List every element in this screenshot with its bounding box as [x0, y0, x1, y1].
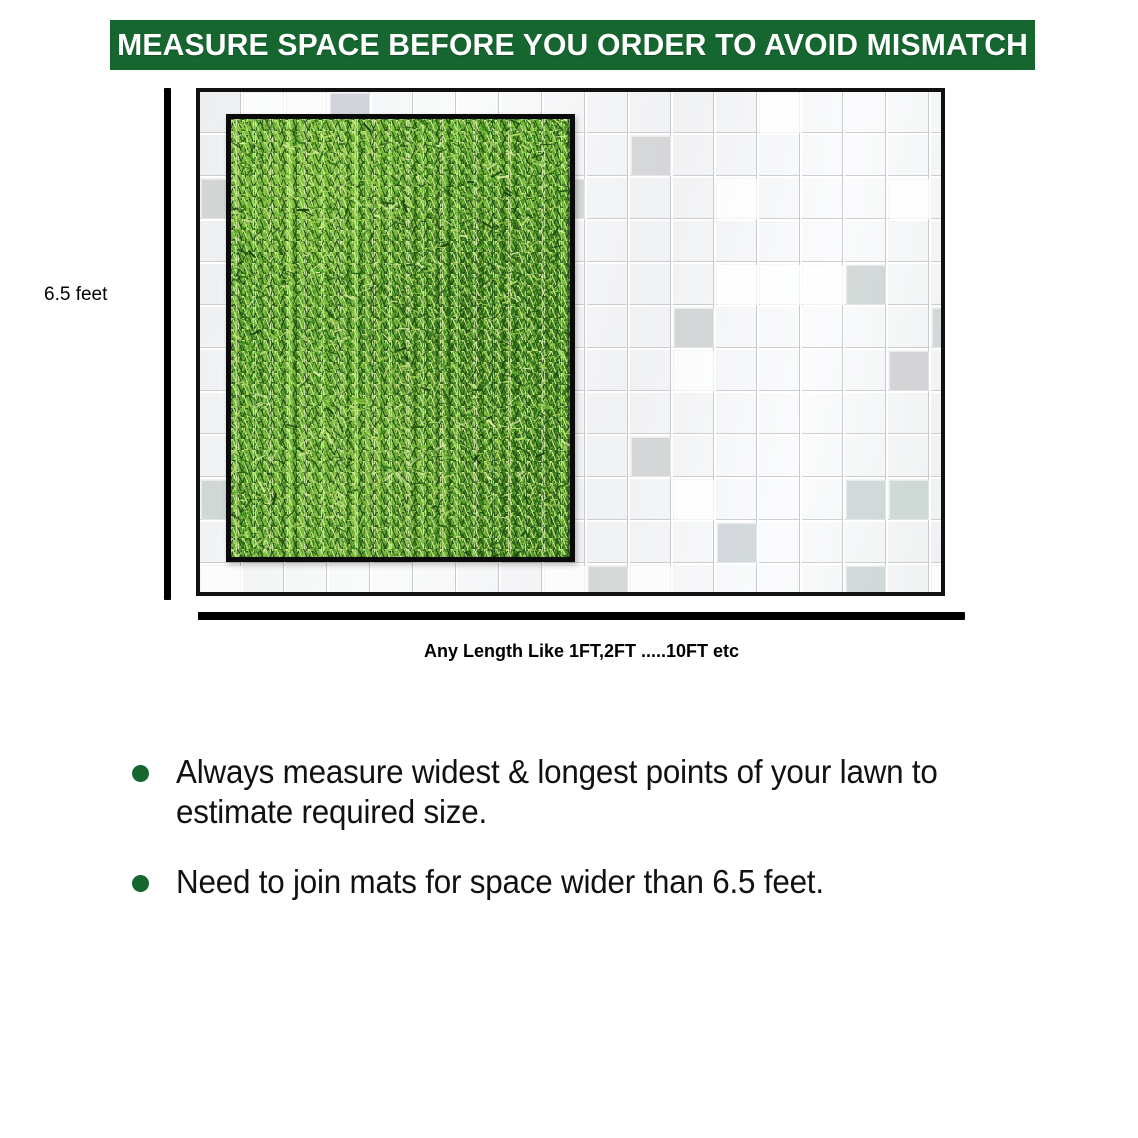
grass-blade [553, 118, 561, 125]
grass-blade [437, 405, 444, 411]
grass-blade [279, 354, 285, 362]
grass-blade [458, 547, 464, 559]
grass-blade [343, 263, 352, 272]
grass-blade [241, 178, 244, 184]
grass-blade [347, 233, 351, 242]
grass-blade [426, 289, 431, 295]
grass-blade [556, 198, 562, 200]
grass-blade [240, 311, 250, 319]
grass-blade [491, 128, 502, 136]
grass-blade [409, 499, 415, 511]
grass-blade [400, 417, 406, 420]
grass-blade [262, 534, 268, 545]
grass-blade [539, 217, 542, 224]
grass-blade [249, 559, 259, 562]
grass-blade [334, 439, 338, 451]
grass-blade [307, 262, 314, 272]
grass-blade [361, 131, 366, 135]
grass-blade [393, 522, 401, 531]
grass-blade [560, 345, 572, 351]
grass-blade [401, 301, 411, 310]
grass-blade [231, 229, 242, 233]
grass-blade [360, 333, 367, 336]
grass-blade [347, 403, 354, 412]
grass-blade [312, 354, 317, 363]
grass-blade [517, 446, 528, 453]
grass-blade [554, 505, 558, 511]
grass-blade [469, 285, 473, 291]
grass-blade [300, 164, 311, 167]
grass-blade [314, 252, 316, 256]
grass-blade [478, 139, 485, 140]
grass-blade [554, 419, 562, 430]
grass-blade [526, 279, 533, 285]
grass-blade [305, 537, 312, 544]
grass-blade [551, 254, 558, 256]
grass-blade [353, 292, 358, 303]
grass-blade [349, 461, 356, 466]
grass-blade [282, 260, 289, 267]
grass-blade [249, 544, 256, 554]
grass-blade [567, 131, 575, 135]
grass-blade [359, 260, 365, 269]
grass-blade [560, 249, 565, 254]
grass-blade [282, 114, 292, 115]
grass-blade [327, 217, 338, 224]
grass-blade [229, 448, 237, 455]
grass-blade [350, 410, 359, 412]
grass-blade [533, 547, 539, 549]
grass-blade [394, 347, 406, 353]
grass-blade [411, 293, 423, 294]
grass-blade [399, 276, 409, 283]
grass-blade [565, 201, 570, 212]
grass-blade [487, 318, 492, 324]
grass-blade [455, 425, 461, 431]
grass-blade [250, 392, 256, 395]
grass-blade [289, 144, 300, 149]
grass-blade [325, 535, 329, 540]
grass-blade [354, 199, 363, 207]
grass-blade [420, 386, 430, 389]
grass-blade [361, 151, 367, 158]
grass-blade [425, 293, 437, 300]
grass-blade [293, 481, 304, 490]
grass-blade [469, 383, 478, 388]
grass-blade [392, 318, 402, 322]
grass-blade [311, 412, 319, 424]
grass-blade [405, 126, 416, 129]
grass-blade [554, 173, 562, 179]
grass-blade [447, 123, 457, 132]
grass-blade [562, 167, 569, 172]
grass-blade [495, 198, 503, 205]
vertical-measure-label: 6.5 feet [44, 284, 107, 306]
grass-blade [569, 429, 575, 434]
grass-blade [328, 385, 336, 388]
grass-blade [558, 410, 565, 419]
grass-blade [509, 262, 518, 272]
grass-blade [528, 201, 535, 208]
grass-blade [554, 508, 558, 516]
grass-blade [325, 251, 332, 260]
grass-blade [560, 293, 572, 297]
grass-blade [467, 234, 473, 242]
grass-blade [369, 237, 374, 240]
grass-blade [513, 234, 517, 242]
grass-blade [387, 399, 391, 403]
grass-blade [378, 290, 381, 295]
grass-blade [438, 356, 446, 360]
grass-blade [467, 524, 470, 530]
grass-blade [325, 271, 330, 278]
grass-blade [541, 247, 551, 254]
grass-blade [410, 490, 414, 496]
grass-blade [334, 154, 341, 162]
grass-blade [343, 463, 354, 468]
grass-blade [487, 463, 499, 470]
grass-blade [424, 267, 437, 273]
grass-blade [454, 503, 460, 509]
grass-blade [366, 327, 374, 339]
grass-blade [426, 307, 432, 316]
grass-blade [320, 383, 324, 391]
grass-blade [517, 470, 526, 477]
grass-blade [291, 368, 294, 372]
grass-blade [412, 277, 417, 282]
grass-blade [374, 282, 382, 289]
grass-blade [500, 248, 504, 252]
grass-blade [472, 202, 475, 206]
grass-blade [282, 182, 287, 187]
grass-blade [276, 147, 281, 152]
grass-blade [420, 114, 425, 124]
grass-blade [519, 176, 526, 177]
grass-blade [413, 319, 417, 325]
grass-blade [383, 317, 388, 321]
grass-blade [520, 333, 527, 334]
grass-blade [460, 210, 469, 213]
grass-blade [413, 409, 417, 415]
grass-blade [399, 147, 406, 151]
grass-blade [492, 554, 499, 559]
grass-blade [482, 162, 486, 166]
grass-blade [538, 420, 546, 432]
grass-blade [246, 152, 253, 162]
grass-blade [456, 517, 460, 521]
grass-blade [436, 403, 449, 405]
grass-blade [518, 263, 521, 269]
grass-blade [283, 503, 290, 505]
grass-blade [506, 150, 517, 156]
grass-blade [321, 125, 324, 129]
grass-blade [445, 488, 455, 492]
grass-blade [563, 492, 570, 497]
grass-blade [426, 268, 434, 273]
grass-blade [369, 467, 373, 473]
grass-blade [516, 354, 523, 355]
grass-blade [282, 358, 288, 361]
grass-blade [570, 172, 575, 174]
grass-blade [443, 168, 453, 171]
grass-blade [239, 304, 244, 311]
grass-blade [518, 114, 523, 117]
grass-blade [335, 336, 341, 339]
grass-blade [416, 285, 422, 296]
grass-blade [324, 255, 332, 257]
grass-blade [545, 117, 556, 124]
grass-blade [417, 408, 421, 414]
grass-blade [514, 229, 523, 232]
grass-blade [288, 323, 294, 335]
grass-blade [330, 448, 335, 456]
grass-blade [525, 119, 532, 127]
grass-blade [472, 389, 482, 391]
grass-blade [262, 545, 268, 553]
grass-blade [306, 453, 316, 462]
grass-blade [401, 465, 404, 473]
grass-blade [242, 232, 246, 241]
grass-blade [356, 114, 366, 118]
grass-blade [504, 495, 509, 499]
grass-blade [513, 128, 518, 131]
grass-blade [502, 221, 514, 224]
grass-blade [259, 481, 266, 492]
grass-blade [343, 222, 349, 231]
grass-blade [416, 176, 421, 183]
grass-blade [428, 244, 433, 247]
grass-blade [473, 245, 486, 249]
grass-blade [502, 300, 511, 304]
grass-blade [409, 457, 420, 466]
grass-blade [304, 419, 316, 423]
grass-blade [298, 423, 302, 433]
grass-blade [555, 118, 567, 124]
grass-blade [484, 211, 489, 215]
grass-blade [455, 284, 457, 288]
grass-blade [355, 323, 361, 335]
grass-blade [226, 354, 233, 363]
grass-blade [435, 359, 441, 368]
grass-blade [398, 252, 403, 257]
grass-blade [533, 415, 540, 423]
grass-blade [358, 149, 365, 157]
grass-blade [250, 330, 260, 336]
grass-blade [574, 306, 575, 315]
grass-blade [311, 402, 317, 405]
grass-blade [462, 308, 472, 310]
grass-blade [523, 254, 528, 263]
grass-blade [354, 202, 364, 207]
grass-blade [323, 348, 330, 357]
grass-blade [572, 211, 575, 223]
grass-blade [413, 358, 417, 363]
grass-blade [404, 474, 407, 481]
grass-blade [313, 150, 318, 154]
grass-blade [527, 205, 538, 209]
grass-blade [337, 180, 346, 182]
grass-blade [372, 495, 377, 500]
grass-blade [326, 363, 337, 371]
grass-blade [553, 423, 561, 425]
grass-blade [426, 540, 434, 544]
grass-blade [343, 306, 348, 313]
grass-blade [381, 243, 392, 245]
grass-blade [532, 422, 537, 429]
grass-blade [382, 460, 391, 470]
grass-blade [357, 397, 364, 403]
grass-blade [354, 114, 358, 115]
grass-blade [254, 547, 260, 558]
grass-blade [482, 164, 493, 167]
grass-blade [369, 420, 375, 429]
grass-blade [385, 548, 391, 550]
grass-blade [548, 506, 555, 510]
grass-blade [425, 176, 431, 185]
grass-blade [385, 284, 393, 290]
grass-blade [228, 495, 234, 499]
grass-blade [312, 142, 318, 147]
grass-blade [434, 276, 437, 280]
grass-blade [459, 528, 466, 533]
grass-blade [283, 126, 289, 128]
grass-blade [377, 144, 384, 146]
grass-blade [237, 267, 244, 273]
grass-blade [415, 256, 426, 266]
grass-blade [359, 473, 365, 481]
grass-blade [398, 328, 410, 329]
grass-blade [273, 295, 277, 299]
grass-blade [430, 158, 435, 168]
grass-blade [414, 145, 421, 155]
grass-blade [480, 125, 485, 127]
grass-blade [327, 340, 330, 347]
grass-blade [428, 184, 435, 194]
grass-blade [373, 264, 381, 268]
grass-blade [228, 329, 236, 331]
grass-blade [393, 553, 399, 554]
grass-blade [392, 131, 397, 132]
grass-blade [233, 244, 245, 247]
grass-blade [565, 277, 574, 282]
grass-blade [378, 559, 382, 562]
grass-blade [417, 404, 425, 413]
grass-blade [374, 236, 378, 242]
grass-blade [528, 241, 538, 249]
grass-blade [328, 158, 336, 165]
grass-blade [469, 401, 480, 409]
grass-blade [314, 295, 316, 299]
grass-blade [226, 544, 234, 548]
grass-blade [308, 431, 315, 439]
grass-blade [267, 446, 274, 453]
grass-blade [318, 508, 321, 513]
grass-blade [508, 429, 514, 435]
grass-blade [369, 458, 371, 462]
grass-blade [246, 173, 250, 181]
grass-blade [525, 144, 530, 153]
grass-blade [275, 315, 285, 319]
grass-blade [390, 202, 398, 210]
grass-blade [377, 114, 385, 115]
grass-blade [432, 525, 435, 529]
grass-blade [417, 368, 426, 373]
grass-blade [550, 147, 558, 155]
grass-blade [260, 351, 265, 354]
tile [631, 566, 671, 596]
grass-blade [239, 400, 245, 408]
grass-blade [418, 475, 422, 480]
grass-blade [263, 197, 269, 206]
grass-blade [520, 480, 524, 485]
grass-blade [395, 124, 406, 129]
grass-blade [226, 302, 238, 305]
grass-blade [545, 406, 550, 409]
grass-blade [477, 272, 482, 277]
grass-blade [352, 555, 358, 561]
grass-blade [451, 364, 462, 370]
grass-blade [521, 192, 526, 193]
grass-blade [567, 120, 575, 127]
grass-blade [226, 327, 235, 337]
grass-blade [312, 271, 316, 279]
grass-blade [375, 130, 381, 138]
grass-blade [474, 454, 480, 464]
grass-blade [397, 359, 405, 366]
grass-blade [270, 500, 276, 503]
grass-blade [553, 156, 562, 162]
grass-blade [365, 425, 369, 430]
grass-blade [332, 502, 338, 504]
grass-blade [396, 304, 402, 309]
grass-blade [345, 551, 356, 559]
grass-blade [226, 170, 231, 175]
grass-blade [455, 557, 463, 562]
grass-blade [332, 164, 338, 171]
grass-blade [458, 125, 467, 129]
grass-blade [468, 246, 478, 249]
grass-blade [454, 299, 466, 304]
grass-blade [435, 528, 439, 537]
grass-blade [559, 189, 568, 192]
grass-blade [279, 325, 291, 329]
grass-blade [383, 367, 388, 376]
grass-blade [334, 503, 340, 506]
grass-blade [275, 365, 286, 368]
grass-blade [447, 186, 454, 187]
grass-blade [473, 304, 479, 306]
grass-blade [385, 242, 388, 251]
grass-blade [300, 162, 304, 171]
grass-blade [525, 466, 529, 473]
grass-blade [260, 497, 264, 502]
grass-blade [525, 182, 537, 186]
grass-blade [302, 138, 308, 142]
grass-blade [427, 202, 431, 211]
grass-blade [479, 548, 484, 557]
grass-blade [571, 470, 575, 474]
grass-blade [419, 409, 425, 419]
grass-blade [512, 235, 516, 239]
grass-blade [300, 390, 305, 397]
grass-blade [432, 294, 436, 297]
grass-blade [516, 401, 521, 407]
grass-blade [233, 483, 238, 493]
grass-blade [569, 394, 575, 397]
grass-blade [372, 242, 379, 247]
grass-blade [230, 212, 241, 215]
grass-blade [416, 252, 423, 258]
